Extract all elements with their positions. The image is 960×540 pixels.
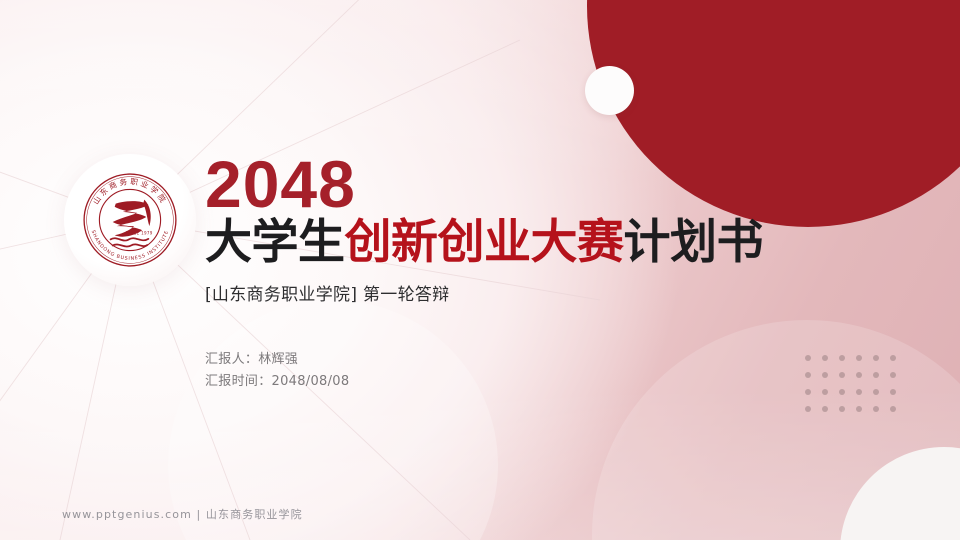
title-text-block: 2048 大学生创新创业大赛计划书 [山东商务职业学院] 第一轮答辩 汇报人：林…	[205, 152, 845, 393]
svg-text:SINCE 1979: SINCE 1979	[126, 230, 153, 235]
presentation-title-slide: 山东商务职业学院 SHANDONG BUSINESS INSTITUTE SIN…	[0, 0, 960, 540]
university-logo-icon: 山东商务职业学院 SHANDONG BUSINESS INSTITUTE SIN…	[79, 169, 181, 271]
headline-part-3: 计划书	[624, 215, 764, 270]
presenter-name: 汇报人：林辉强	[205, 349, 845, 371]
presentation-date: 汇报时间：2048/08/08	[205, 371, 845, 393]
subtitle: [山东商务职业学院] 第一轮答辩	[205, 280, 845, 305]
year-heading: 2048	[205, 152, 845, 217]
headline-part-2: 创新创业大赛	[345, 215, 624, 270]
page-title: 大学生创新创业大赛计划书	[205, 219, 845, 268]
footer-credit: www.pptgenius.com | 山东商务职业学院	[62, 506, 303, 522]
small-white-circle	[585, 66, 634, 115]
headline-part-1: 大学生	[205, 215, 345, 270]
presenter-meta-block: 汇报人：林辉强 汇报时间：2048/08/08	[205, 349, 845, 394]
